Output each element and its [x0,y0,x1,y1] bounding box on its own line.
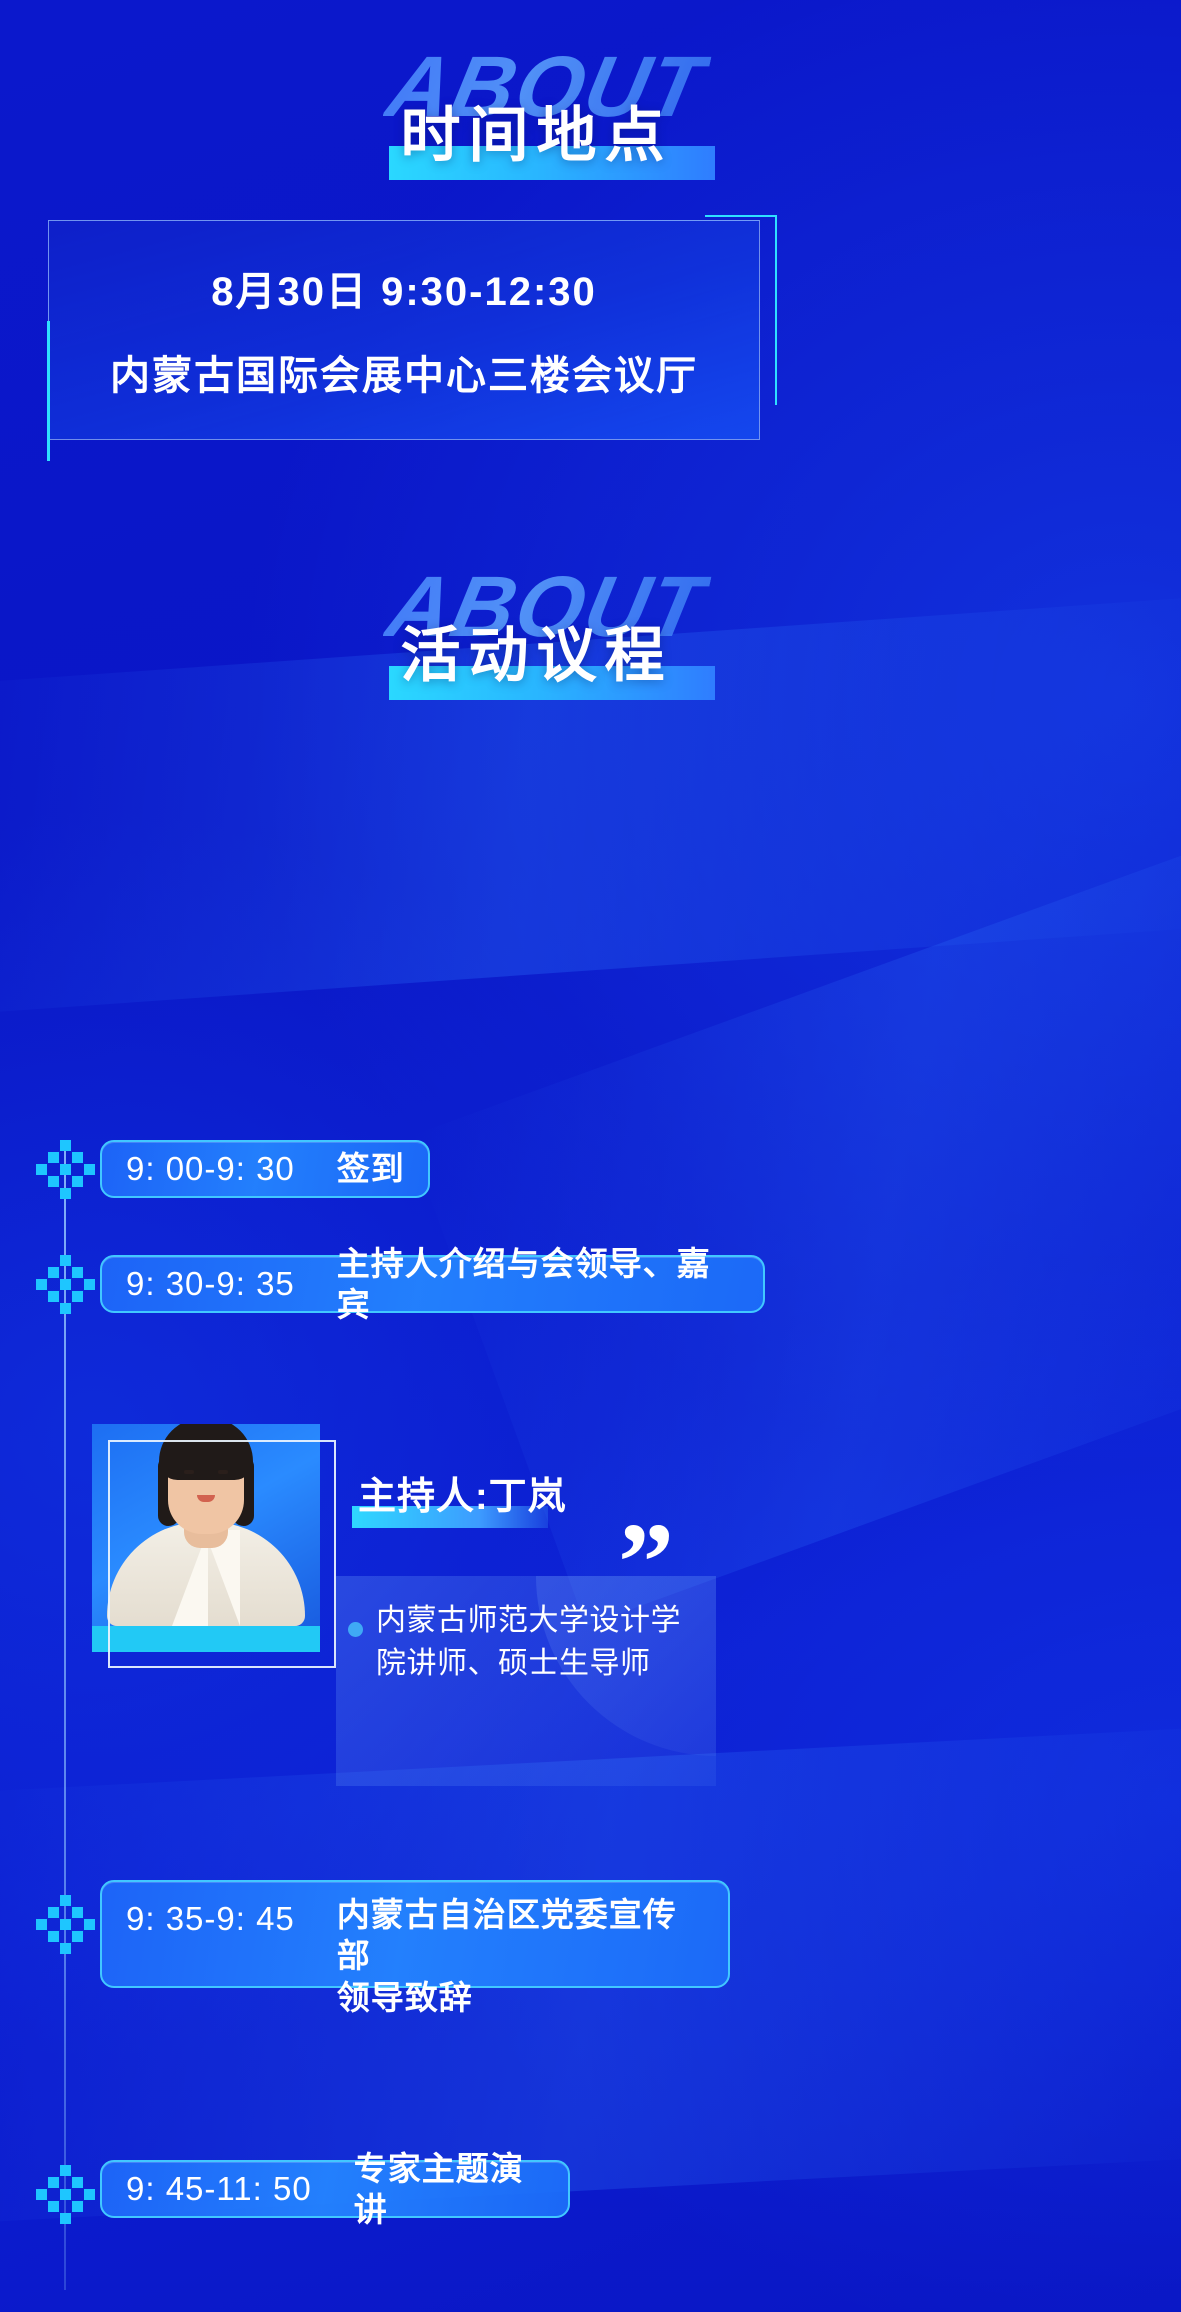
timeline-marker-diamond-2 [36,1255,94,1313]
timeline-marker-cell [60,1919,71,1930]
section-header-stack-agenda: ABOUT 活动议程 [381,570,801,700]
timeline-marker-cell [36,1279,47,1290]
agenda-item-1-time: 9: 00-9: 30 [126,1150,295,1188]
timeline-marker-cell [72,2201,83,2212]
timeline-marker-cell [48,2177,59,2188]
timeline-marker-diamond-4 [36,2165,94,2223]
agenda-item-1-title: 签到 [337,1148,405,1189]
section-header-agenda: ABOUT 活动议程 [0,560,1181,700]
timeline-marker-cell [60,2213,71,2224]
timeline-marker-cell [60,2165,71,2176]
agenda-item-2[interactable]: 9: 30-9: 35 主持人介绍与会领导、嘉宾 [100,1255,765,1313]
timeline-marker-cell [48,1907,59,1918]
timeline-marker-cell [72,1931,83,1942]
section-header-stack: ABOUT 时间地点 [381,50,801,180]
agenda-item-4[interactable]: 9: 45-11: 50 专家主题演讲 [100,2160,570,2218]
timeline-marker-cell [60,1279,71,1290]
timeline-marker-cell [72,1907,83,1918]
venue-info-box: 8月30日 9:30-12:30 内蒙古国际会展中心三楼会议厅 [48,220,760,440]
timeline-marker-cell [48,1176,59,1187]
poster-canvas: ABOUT 时间地点 8月30日 9:30-12:30 内蒙古国际会展中心三楼会… [0,0,1181,2312]
timeline-marker-diamond-3 [36,1895,94,1953]
timeline-marker-cell [60,1140,71,1151]
agenda-item-2-title: 主持人介绍与会领导、嘉宾 [337,1243,741,1326]
agenda-item-3-time: 9: 35-9: 45 [126,1900,295,1938]
timeline-connector-line [64,1150,66,2290]
venue-location: 内蒙古国际会展中心三楼会议厅 [110,343,698,401]
host-photo-frame [108,1440,336,1668]
agenda-item-2-time: 9: 30-9: 35 [126,1265,295,1303]
timeline-marker-cell [60,1255,71,1266]
timeline-marker-cell [60,1895,71,1906]
timeline-marker-cell [48,1291,59,1302]
timeline-marker-cell [72,1291,83,1302]
timeline-marker-cell [72,1152,83,1163]
timeline-marker-cell [84,1279,95,1290]
section-title-agenda: 活动议程 [401,626,673,686]
agenda-item-3[interactable]: 9: 35-9: 45 内蒙古自治区党委宣传部 领导致辞 [100,1880,730,1988]
timeline-marker-cell [48,1152,59,1163]
section-title-time-location: 时间地点 [401,106,673,166]
timeline-marker-cell [48,1931,59,1942]
quote-mark-icon: ” [618,1530,672,1597]
timeline-marker-cell [36,1164,47,1175]
venue-box-corner-accent-right [775,215,777,405]
venue-datetime: 8月30日 9:30-12:30 [211,259,597,317]
timeline-marker-cell [48,2201,59,2212]
timeline-marker-cell [36,1919,47,1930]
timeline-marker-diamond-1 [36,1140,94,1198]
timeline-marker-cell [60,2189,71,2200]
timeline-marker-cell [72,1267,83,1278]
section-header-time-location: ABOUT 时间地点 [0,40,1181,180]
timeline-marker-cell [84,1919,95,1930]
agenda-item-3-title: 内蒙古自治区党委宣传部 领导致辞 [337,1894,706,2018]
host-name: 主持人:丁岚 [352,1478,573,1520]
agenda-item-1[interactable]: 9: 00-9: 30 签到 [100,1140,430,1198]
timeline-marker-cell [60,1303,71,1314]
timeline-marker-cell [84,2189,95,2200]
timeline-marker-cell [60,1188,71,1199]
agenda-item-4-title: 专家主题演讲 [354,2148,546,2231]
timeline-marker-cell [84,1164,95,1175]
timeline-marker-cell [36,2189,47,2200]
timeline-marker-cell [60,1943,71,1954]
timeline-marker-cell [72,1176,83,1187]
host-bio-text: 内蒙古师范大学设计学院讲师、硕士生导师 [376,1600,706,1685]
timeline-marker-cell [48,1267,59,1278]
agenda-item-4-time: 9: 45-11: 50 [126,2170,312,2208]
timeline-marker-cell [60,1164,71,1175]
bullet-dot-icon [348,1622,363,1637]
venue-box-corner-accent-top [705,215,777,217]
timeline-marker-cell [72,2177,83,2188]
venue-box-edge-accent-left [47,321,50,461]
